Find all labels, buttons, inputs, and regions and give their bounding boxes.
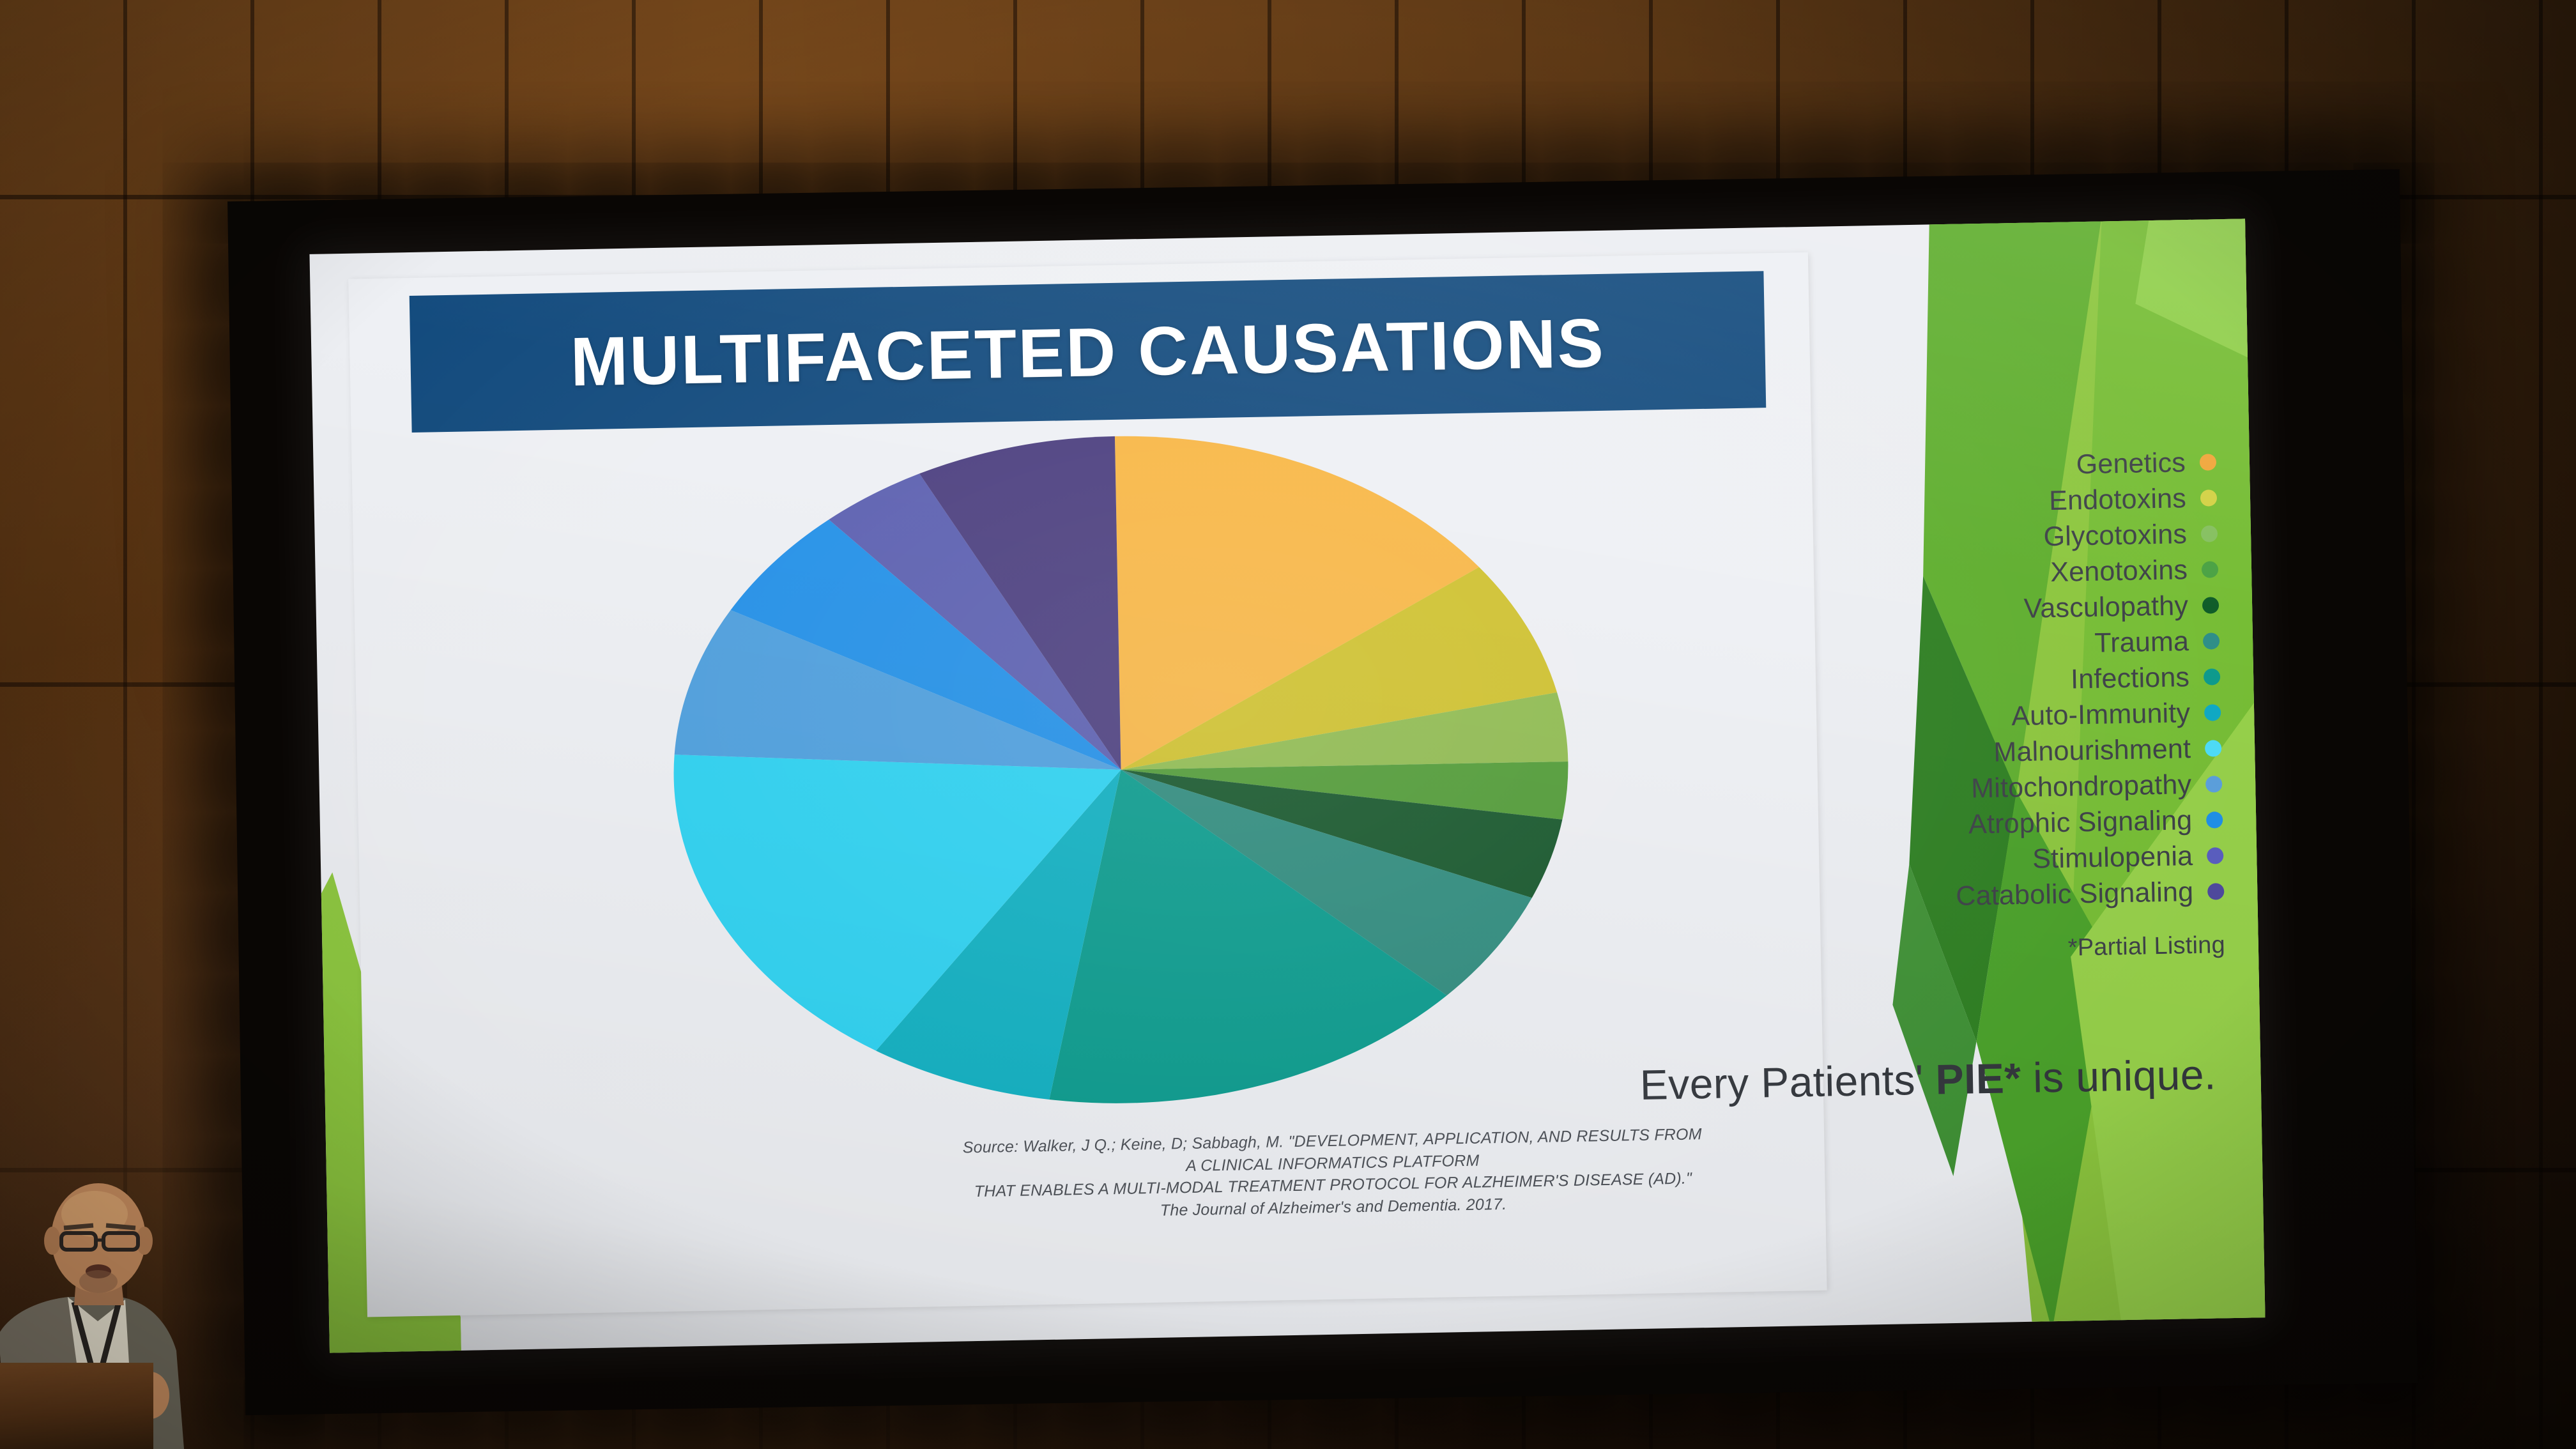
legend-swatch-icon bbox=[2200, 489, 2217, 506]
legend-swatch-icon bbox=[2206, 811, 2223, 828]
legend-label: Auto-Immunity bbox=[2011, 700, 2191, 730]
legend-label: Genetics bbox=[2076, 449, 2186, 479]
page-title: MULTIFACETED CAUSATIONS bbox=[570, 302, 1606, 401]
headline-prefix: Every Patients' bbox=[1639, 1056, 1924, 1108]
pie-chart-svg bbox=[661, 423, 1581, 1117]
legend-label: Atrophic Signaling bbox=[1968, 807, 2193, 838]
legend-swatch-icon bbox=[2205, 776, 2222, 792]
legend-label: Infections bbox=[2071, 664, 2190, 693]
legend-label: Endotoxins bbox=[2049, 485, 2187, 515]
projected-slide: MULTIFACETED CAUSATIONS Genetics Endotox… bbox=[309, 218, 2265, 1353]
headline-suffix: is unique. bbox=[2032, 1050, 2216, 1101]
legend-label: Malnourishment bbox=[1993, 735, 2191, 767]
headline-pie-term: PIE* bbox=[1935, 1054, 2021, 1103]
legend-label: Stimulopenia bbox=[2032, 843, 2193, 873]
legend-label: Trauma bbox=[2094, 628, 2189, 657]
legend-label: Xenotoxins bbox=[2050, 556, 2188, 586]
legend-swatch-icon bbox=[2200, 454, 2216, 470]
pie-chart bbox=[661, 423, 1581, 1117]
partial-listing-footnote: *Partial Listing bbox=[2067, 931, 2225, 962]
slide-canvas: MULTIFACETED CAUSATIONS Genetics Endotox… bbox=[309, 218, 2265, 1353]
legend-swatch-icon bbox=[2202, 561, 2218, 578]
legend-swatch-icon bbox=[2204, 704, 2221, 721]
legend-swatch-icon bbox=[2207, 883, 2224, 900]
chart-legend: Genetics Endotoxins Glycotoxins Xenotoxi… bbox=[1705, 444, 2225, 919]
screenshot-stage: MULTIFACETED CAUSATIONS Genetics Endotox… bbox=[0, 0, 2576, 1449]
legend-label: Vasculopathy bbox=[2023, 592, 2188, 623]
legend-swatch-icon bbox=[2201, 525, 2218, 542]
legend-swatch-icon bbox=[2205, 740, 2221, 756]
podium bbox=[0, 1363, 153, 1449]
legend-swatch-icon bbox=[2207, 847, 2223, 864]
slide-title-bar: MULTIFACETED CAUSATIONS bbox=[410, 271, 1767, 433]
legend-label: Glycotoxins bbox=[2043, 521, 2187, 551]
legend-swatch-icon bbox=[2204, 668, 2220, 685]
legend-swatch-icon bbox=[2202, 597, 2219, 613]
legend-label: Catabolic Signaling bbox=[1956, 878, 2194, 910]
legend-swatch-icon bbox=[2203, 632, 2219, 649]
legend-label: Mitochondropathy bbox=[1971, 771, 2192, 802]
